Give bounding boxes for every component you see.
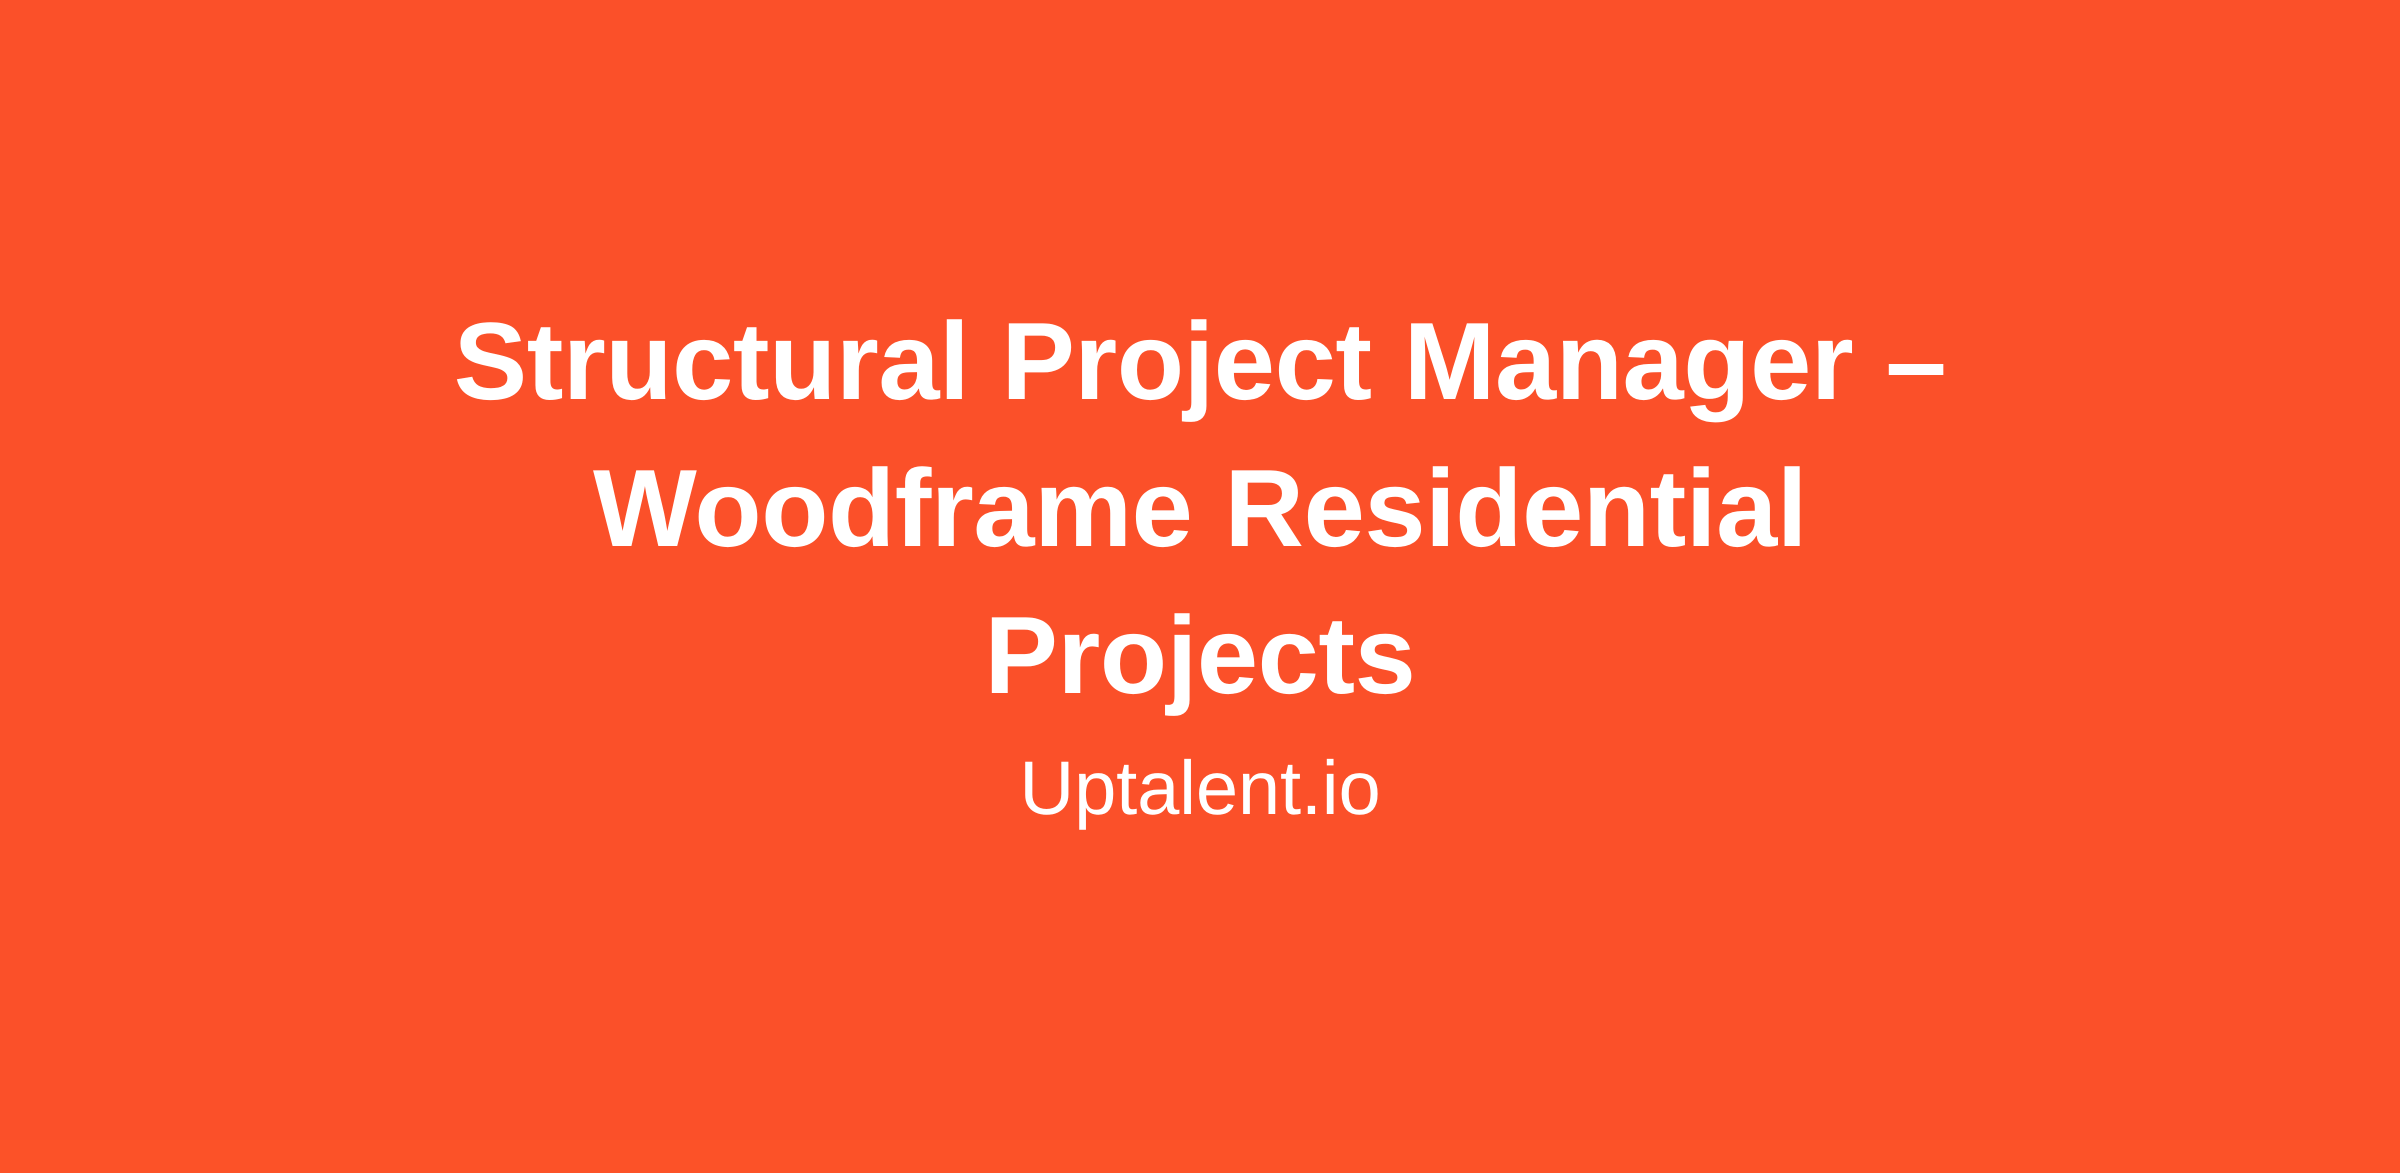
card-content: Structural Project Manager – Woodframe R… [380, 0, 2020, 1173]
brand-name: Uptalent.io [380, 744, 2020, 834]
page-title: Structural Project Manager – Woodframe R… [380, 288, 2020, 730]
job-posting-social-card: Structural Project Manager – Woodframe R… [0, 0, 2400, 1173]
